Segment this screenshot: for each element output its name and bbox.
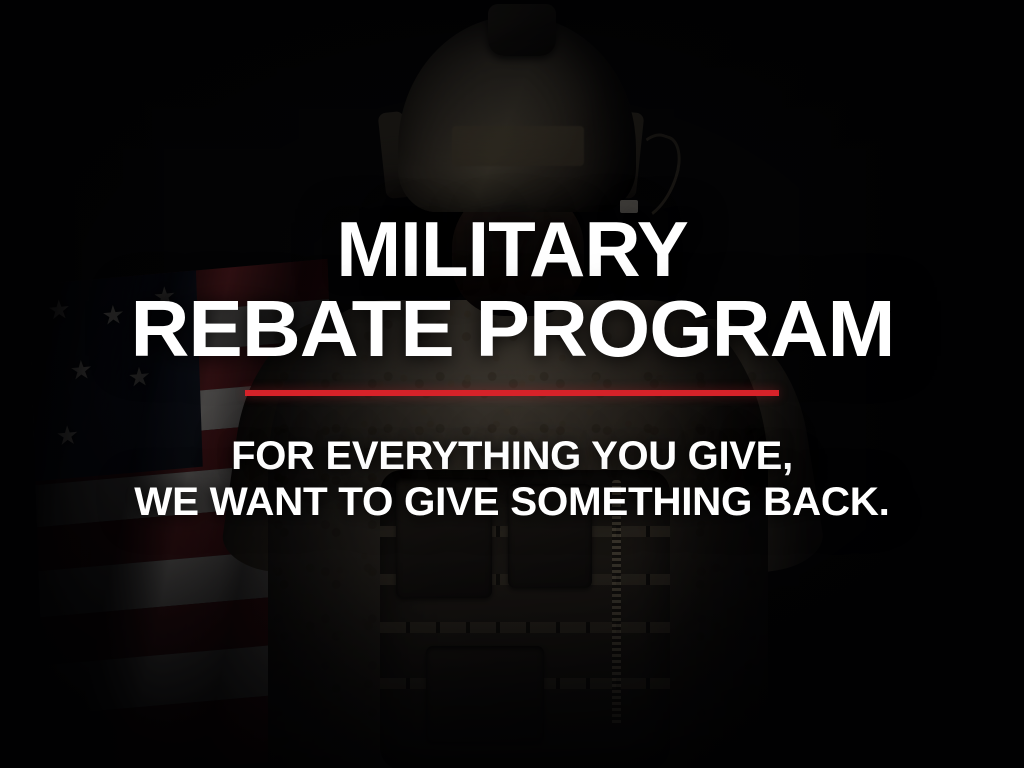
- subhead-line-1: FOR EVERYTHING YOU GIVE,: [231, 434, 793, 479]
- headline-line-2: REBATE PROGRAM: [130, 291, 894, 368]
- subhead-line-2: WE WANT TO GIVE SOMETHING BACK.: [134, 480, 889, 525]
- military-rebate-program-banner: ★ ★ ★ ★ ★ ★: [0, 0, 1024, 768]
- banner-content: MILITARY REBATE PROGRAM FOR EVERYTHING Y…: [0, 0, 1024, 768]
- accent-divider-rule: [245, 390, 779, 396]
- headline-line-1: MILITARY: [336, 212, 688, 287]
